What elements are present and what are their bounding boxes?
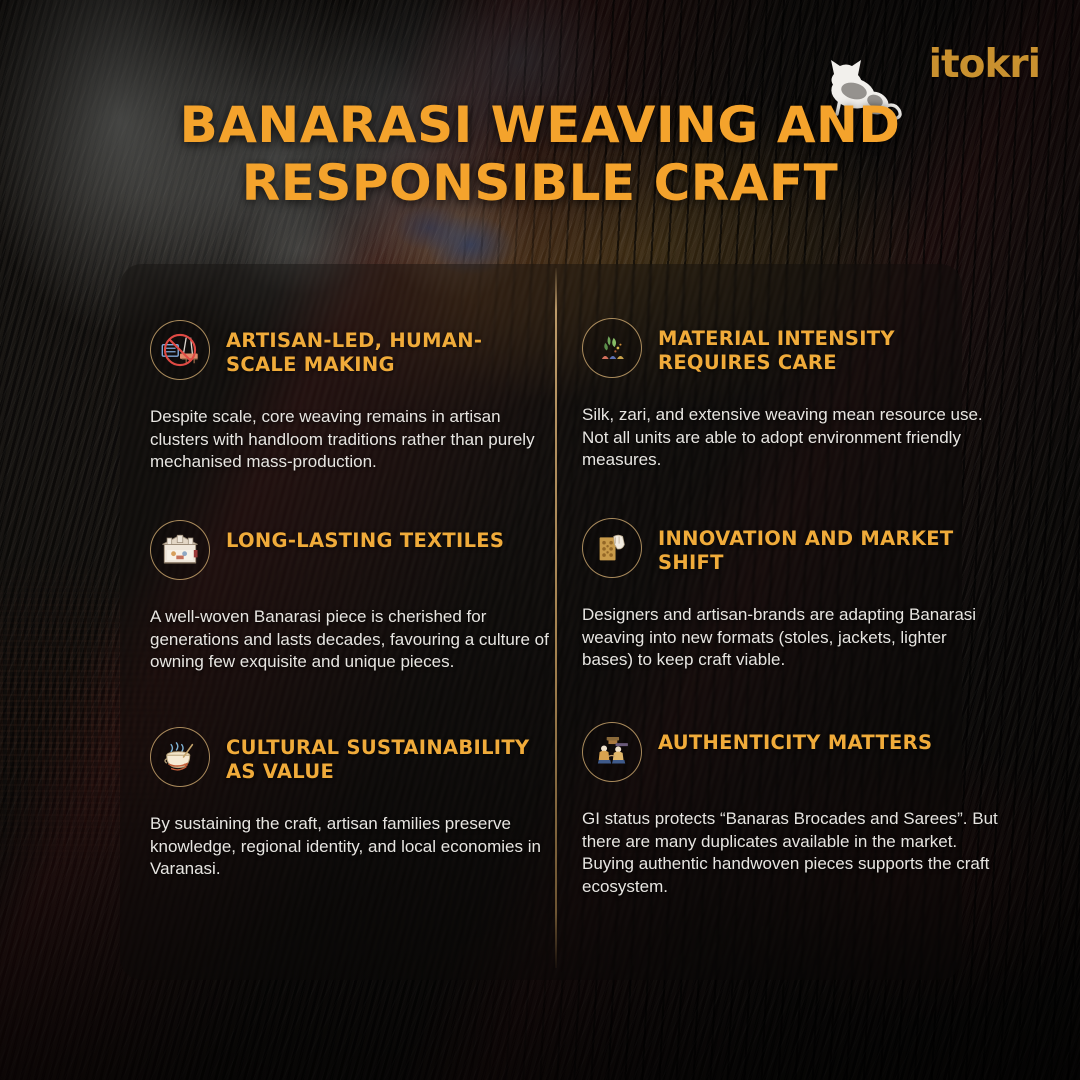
- card-cultural-sustainability: CULTURAL SUSTAINABILITY AS VALUE By sust…: [150, 727, 550, 881]
- card-long-lasting-textiles: LONG-LASTING TEXTILES A well-woven Banar…: [150, 520, 550, 674]
- card-body: GI status protects “Banaras Brocades and…: [582, 808, 1000, 898]
- hand-holding-brocade-swatch-icon: [582, 518, 642, 578]
- card-title: AUTHENTICITY MATTERS: [658, 722, 932, 755]
- card-title: LONG-LASTING TEXTILES: [226, 520, 504, 553]
- brand-logo-text: itokri: [929, 45, 1040, 84]
- card-innovation-market-shift: INNOVATION AND MARKET SHIFT Designers an…: [582, 518, 1000, 672]
- page-title: BANARASI WEAVING AND RESPONSIBLE CRAFT: [0, 96, 1080, 212]
- card-title: MATERIAL INTENSITY REQUIRES CARE: [658, 318, 1000, 375]
- card-authenticity-matters: AUTHENTICITY MATTERS GI status protects …: [582, 722, 1000, 898]
- natural-dye-leaves-icon: [582, 318, 642, 378]
- column-divider: [555, 268, 557, 968]
- card-header: INNOVATION AND MARKET SHIFT: [582, 518, 1000, 578]
- card-header: AUTHENTICITY MATTERS: [582, 722, 1000, 782]
- card-material-intensity: MATERIAL INTENSITY REQUIRES CARE Silk, z…: [582, 318, 1000, 472]
- infographic-canvas: itokri BANARASI WEAVING AND RESPONSIBLE …: [0, 0, 1080, 1080]
- card-body: By sustaining the craft, artisan familie…: [150, 813, 550, 881]
- no-mass-production-loom-icon: [150, 320, 210, 380]
- card-title: CULTURAL SUSTAINABILITY AS VALUE: [226, 727, 550, 784]
- card-header: ARTISAN-LED, HUMAN-SCALE MAKING: [150, 320, 550, 380]
- card-body: A well-woven Banarasi piece is cherished…: [150, 606, 550, 674]
- steaming-dye-pot-icon: [150, 727, 210, 787]
- card-header: LONG-LASTING TEXTILES: [150, 520, 550, 580]
- card-title: ARTISAN-LED, HUMAN-SCALE MAKING: [226, 320, 550, 377]
- card-body: Designers and artisan-brands are adaptin…: [582, 604, 1000, 672]
- card-title: INNOVATION AND MARKET SHIFT: [658, 518, 1000, 575]
- two-artisans-seated-icon: [582, 722, 642, 782]
- card-artisan-led: ARTISAN-LED, HUMAN-SCALE MAKING Despite …: [150, 320, 550, 474]
- card-body: Silk, zari, and extensive weaving mean r…: [582, 404, 1000, 472]
- card-header: CULTURAL SUSTAINABILITY AS VALUE: [150, 727, 550, 787]
- brand-logo[interactable]: itokri: [924, 38, 1040, 90]
- handloom-shop-icon: [150, 520, 210, 580]
- card-body: Despite scale, core weaving remains in a…: [150, 406, 550, 474]
- card-header: MATERIAL INTENSITY REQUIRES CARE: [582, 318, 1000, 378]
